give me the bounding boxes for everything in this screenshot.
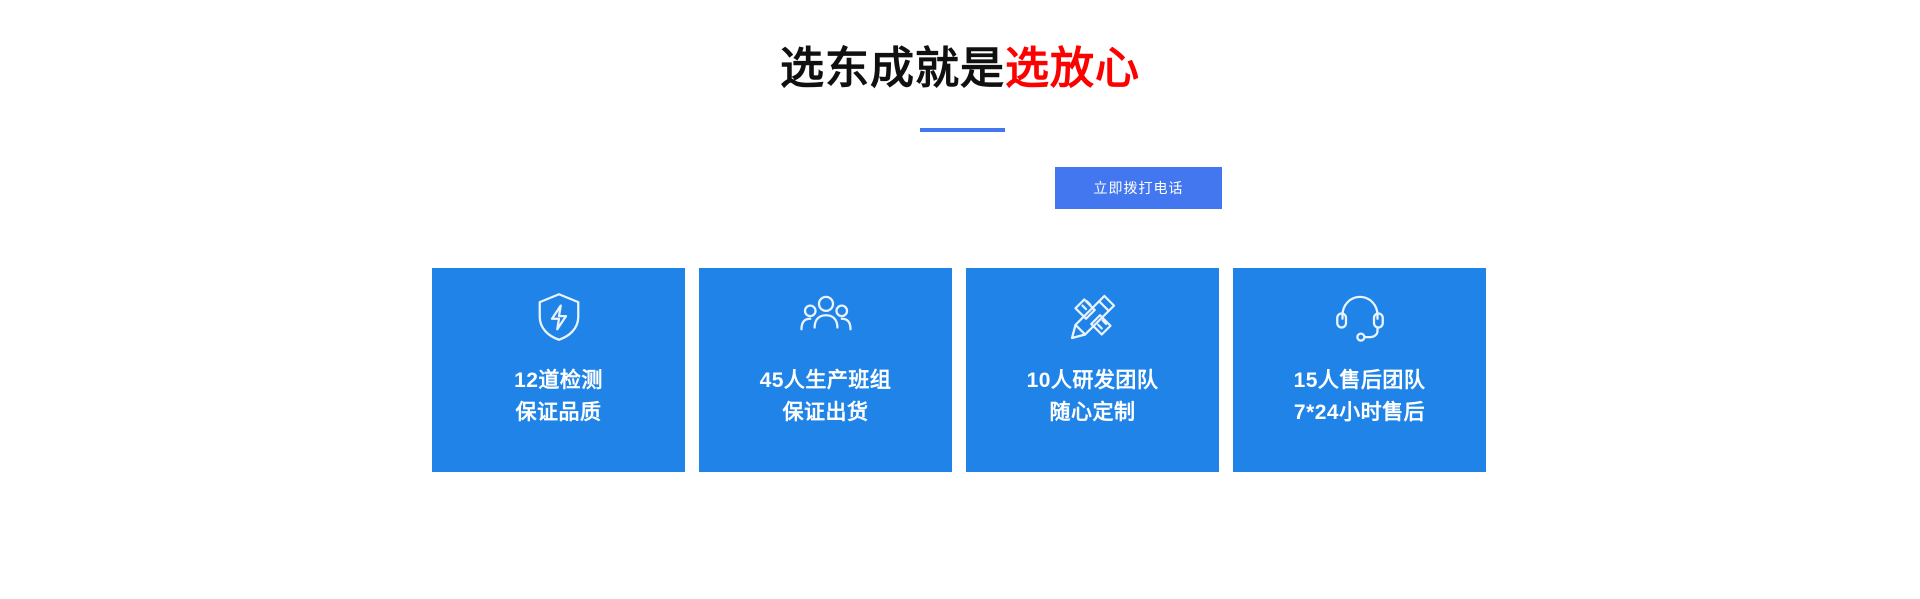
- pencil-ruler-icon: [1065, 289, 1121, 345]
- feature-card-line1: 10人研发团队: [1027, 365, 1159, 397]
- people-group-icon: [798, 289, 854, 345]
- page-title-highlight: 选放心: [1005, 44, 1140, 93]
- feature-card-line1: 15人售后团队: [1294, 365, 1426, 397]
- feature-card-support[interactable]: 15人售后团队 7*24小时售后: [1233, 268, 1486, 472]
- feature-card-line2: 保证出货: [783, 397, 869, 429]
- feature-card-line2: 7*24小时售后: [1294, 397, 1425, 429]
- promo-banner: 选东成就是选放心 立即拨打电话 12道检测 保证品质: [0, 0, 1920, 599]
- shield-bolt-icon: [531, 289, 587, 345]
- call-now-button[interactable]: 立即拨打电话: [1055, 167, 1222, 209]
- feature-card-line1: 12道检测: [514, 365, 603, 397]
- feature-card-line2: 保证品质: [516, 397, 602, 429]
- headset-icon: [1332, 289, 1388, 345]
- feature-card-line2: 随心定制: [1050, 397, 1136, 429]
- page-title: 选东成就是选放心: [0, 42, 1920, 96]
- title-underline-divider: [920, 128, 1005, 132]
- feature-card-list: 12道检测 保证品质 45人生产班组 保证出货: [432, 268, 1486, 472]
- feature-card-line1: 45人生产班组: [760, 365, 892, 397]
- feature-card-rnd[interactable]: 10人研发团队 随心定制: [966, 268, 1219, 472]
- page-title-primary: 选东成就是: [780, 44, 1005, 93]
- feature-card-quality[interactable]: 12道检测 保证品质: [432, 268, 685, 472]
- feature-card-production[interactable]: 45人生产班组 保证出货: [699, 268, 952, 472]
